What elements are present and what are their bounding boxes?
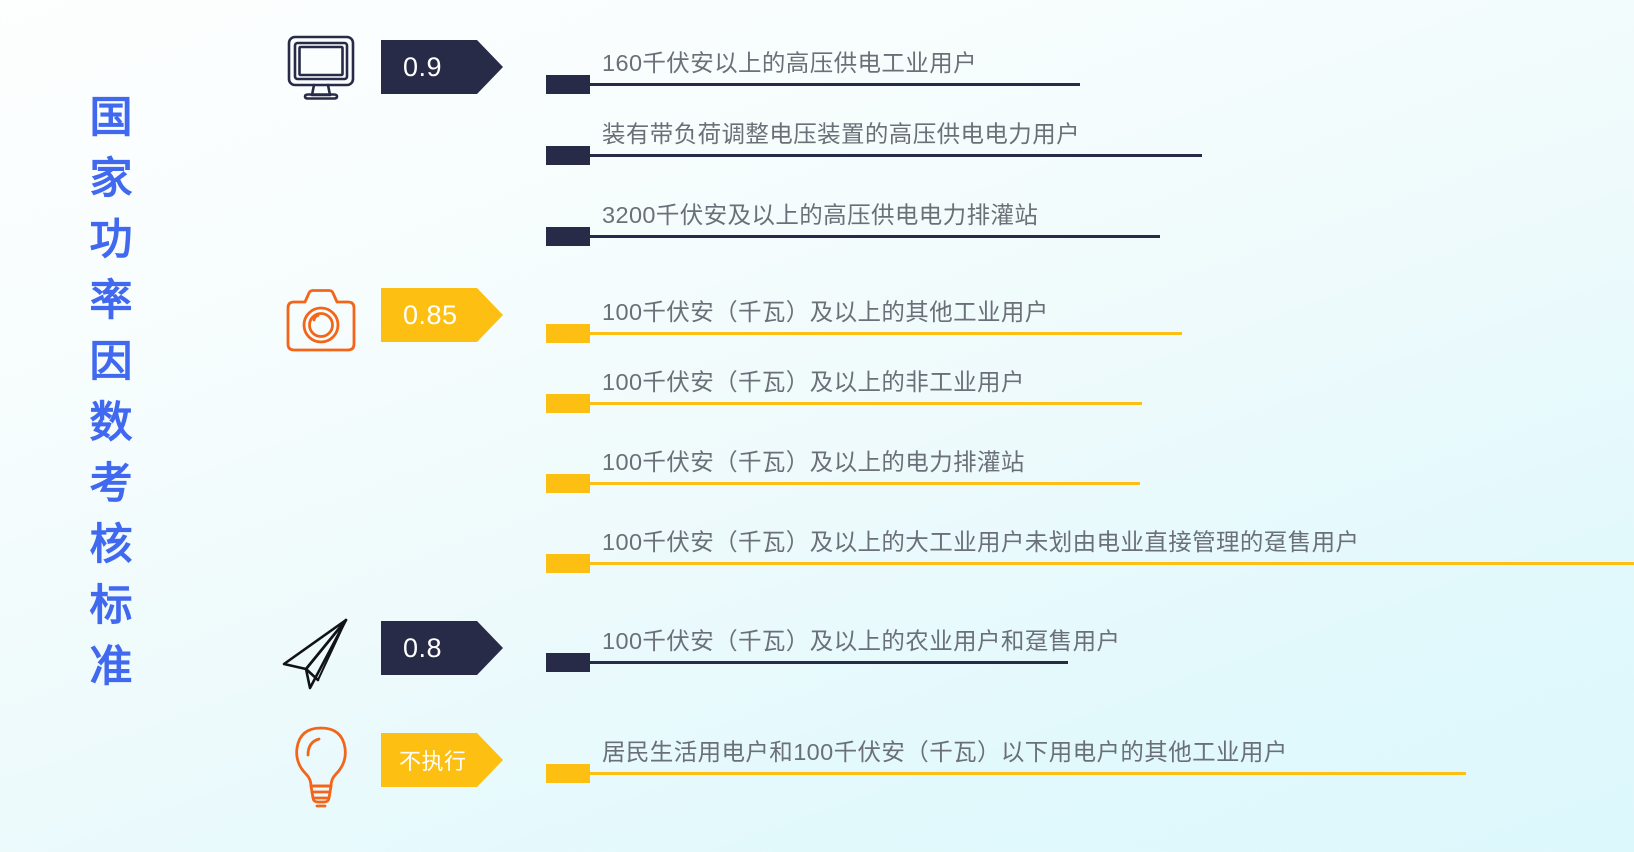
standard-row[interactable]: 100千伏安（千瓦）及以上的非工业用户 xyxy=(546,357,1634,405)
row-rule-nub xyxy=(546,324,590,343)
row-rule-stem xyxy=(590,83,1080,86)
badge-power-factor-085[interactable]: 0.85 xyxy=(381,288,503,342)
camera-icon xyxy=(281,282,361,362)
row-label: 160千伏安以上的高压供电工业用户 xyxy=(602,44,977,78)
title-char: 因 xyxy=(80,332,142,393)
row-label: 100千伏安（千瓦）及以上的电力排灌站 xyxy=(602,443,1025,477)
standard-row[interactable]: 160千伏安以上的高压供电工业用户 xyxy=(546,38,1546,86)
badge-power-factor-090[interactable]: 0.9 xyxy=(381,40,503,94)
badge-power-factor-080[interactable]: 0.8 xyxy=(381,621,503,675)
title-char: 核 xyxy=(80,515,142,576)
row-label: 100千伏安（千瓦）及以上的非工业用户 xyxy=(602,363,1025,397)
title-char: 功 xyxy=(80,210,142,271)
title-char: 家 xyxy=(80,149,142,210)
standard-row[interactable]: 装有带负荷调整电压装置的高压供电电力用户 xyxy=(546,109,1546,157)
row-rule-stem xyxy=(590,562,1634,565)
row-rule-nub xyxy=(546,554,590,573)
row-label: 装有带负荷调整电压装置的高压供电电力用户 xyxy=(602,115,1080,149)
row-label: 100千伏安（千瓦）及以上的农业用户和趸售用户 xyxy=(602,622,1120,656)
standard-row[interactable]: 100千伏安（千瓦）及以上的其他工业用户 xyxy=(546,287,1634,335)
row-rule-stem xyxy=(590,154,1202,157)
title-char: 准 xyxy=(80,637,142,698)
title-char: 数 xyxy=(80,393,142,454)
row-rule-stem xyxy=(590,402,1142,405)
row-label: 100千伏安（千瓦）及以上的其他工业用户 xyxy=(602,293,1049,327)
row-rule-stem xyxy=(590,235,1160,238)
row-rule-stem xyxy=(590,482,1140,485)
badge-label: 不执行 xyxy=(399,744,467,776)
title-char: 率 xyxy=(80,271,142,332)
row-rule-nub xyxy=(546,474,590,493)
standard-row[interactable]: 3200千伏安及以上的高压供电电力排灌站 xyxy=(546,190,1546,238)
standard-row[interactable]: 100千伏安（千瓦）及以上的电力排灌站 xyxy=(546,437,1634,485)
row-rule-nub xyxy=(546,227,590,246)
monitor-icon xyxy=(281,27,361,107)
badge-label: 0.9 xyxy=(403,52,442,83)
badge-label: 0.85 xyxy=(403,300,458,331)
row-rule-stem xyxy=(590,661,1068,664)
row-label: 3200千伏安及以上的高压供电电力排灌站 xyxy=(602,196,1038,230)
standard-row[interactable]: 100千伏安（千瓦）及以上的农业用户和趸售用户 xyxy=(546,616,1546,664)
paper-plane-icon xyxy=(272,612,360,692)
infographic-canvas: 国 家 功 率 因 数 考 核 标 准 0.9 160千伏安以上的高压供电工业用… xyxy=(0,0,1634,852)
row-rule-stem xyxy=(590,772,1466,775)
standard-row[interactable]: 100千伏安（千瓦）及以上的大工业用户未划由电业直接管理的趸售用户 xyxy=(546,517,1634,565)
row-rule-nub xyxy=(546,75,590,94)
title-char: 国 xyxy=(80,88,142,149)
row-rule-nub xyxy=(546,146,590,165)
row-rule-nub xyxy=(546,764,590,783)
badge-label: 0.8 xyxy=(403,633,442,664)
lightbulb-icon xyxy=(286,722,356,814)
badge-power-factor-exempt[interactable]: 不执行 xyxy=(381,733,503,787)
row-rule-nub xyxy=(546,653,590,672)
row-rule-nub xyxy=(546,394,590,413)
title-char: 标 xyxy=(80,576,142,637)
row-label: 居民生活用电户和100千伏安（千瓦）以下用电户的其他工业用户 xyxy=(602,733,1288,767)
title-char: 考 xyxy=(80,454,142,515)
row-rule-stem xyxy=(590,332,1182,335)
standard-row[interactable]: 居民生活用电户和100千伏安（千瓦）以下用电户的其他工业用户 xyxy=(546,727,1634,775)
row-label: 100千伏安（千瓦）及以上的大工业用户未划由电业直接管理的趸售用户 xyxy=(602,523,1359,557)
page-title: 国 家 功 率 因 数 考 核 标 准 xyxy=(80,88,142,698)
